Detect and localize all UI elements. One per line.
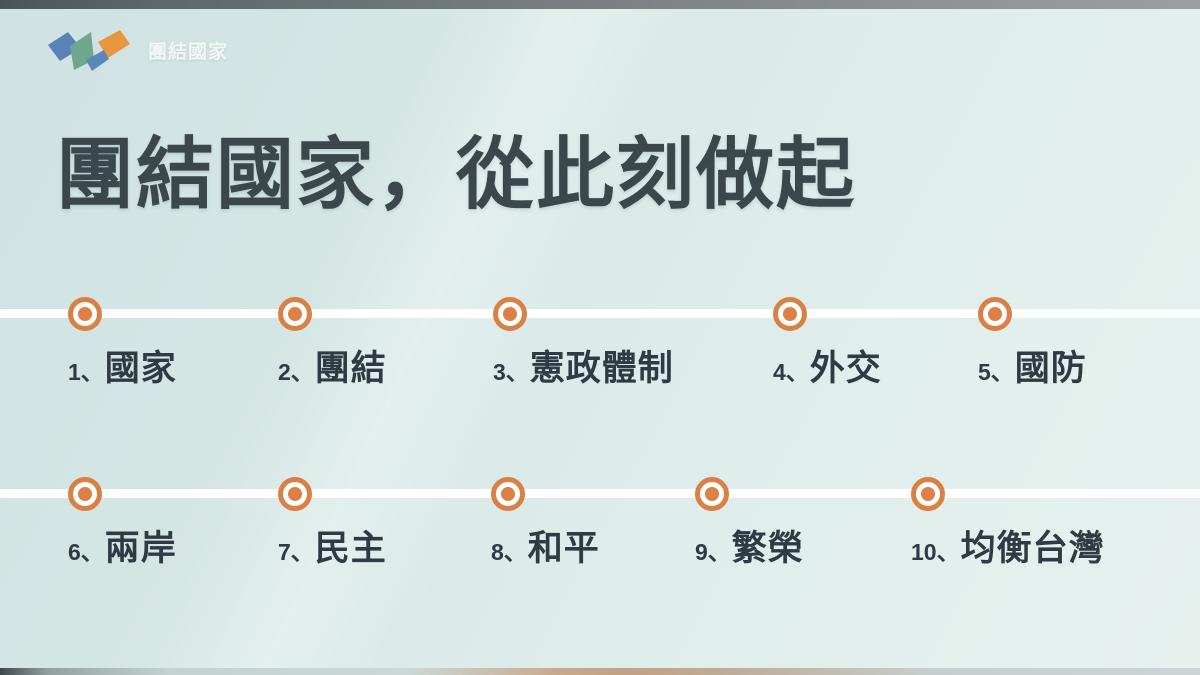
timeline-rail — [0, 309, 1200, 318]
timeline-item-number: 7、 — [278, 533, 314, 567]
timeline-dot-icon — [493, 297, 527, 331]
page-title: 團結國家，從此刻做起 — [56, 132, 856, 216]
timeline-dot-icon — [978, 297, 1012, 331]
timeline-dot-icon — [773, 297, 807, 331]
brand-lockup[interactable]: 團結國家 — [46, 26, 228, 74]
timeline-item-label: 8、 和平 — [491, 520, 600, 571]
top-letterbox-bar — [0, 0, 1200, 9]
four-tile-logo-icon — [46, 26, 136, 74]
slide-canvas: 團結國家 團結國家，從此刻做起 1、 國家 2、 團結 3、 憲政體制 — [0, 0, 1200, 675]
timeline-item-number: 8、 — [491, 533, 527, 567]
timeline-dot-icon — [68, 477, 102, 511]
timeline-item-name: 民主 — [315, 520, 387, 571]
timeline-item-label: 2、 團結 — [278, 340, 387, 391]
timeline-item-number: 5、 — [978, 353, 1014, 387]
timeline-item-name: 團結 — [315, 340, 387, 391]
timeline-item-name: 國家 — [105, 340, 177, 391]
timeline-item-number: 4、 — [773, 353, 809, 387]
timeline-item-number: 1、 — [68, 353, 104, 387]
timeline-item-number: 3、 — [493, 353, 529, 387]
timeline-item-name: 和平 — [528, 520, 600, 571]
timeline-dot-icon — [278, 477, 312, 511]
timeline-item-label: 5、 國防 — [978, 340, 1087, 391]
timeline-item-label: 7、 民主 — [278, 520, 387, 571]
timeline-item-name: 憲政體制 — [530, 340, 674, 391]
timeline-item-label: 1、 國家 — [68, 340, 177, 391]
timeline-dot-icon — [278, 297, 312, 331]
timeline-rail — [0, 489, 1200, 498]
timeline-row-1: 1、 國家 2、 團結 3、 憲政體制 4、 外交 — [0, 286, 1200, 396]
timeline-item-label: 6、 兩岸 — [68, 520, 177, 571]
timeline-dot-icon — [695, 477, 729, 511]
timeline-item-number: 6、 — [68, 533, 104, 567]
timeline-item-label: 4、 外交 — [773, 340, 882, 391]
timeline-item-number: 9、 — [695, 533, 731, 567]
timeline-item-name: 繁榮 — [732, 520, 804, 571]
timeline-item-label: 10、 均衡台灣 — [911, 520, 1105, 571]
timeline-item-name: 國防 — [1015, 340, 1087, 391]
timeline-item-number: 10、 — [911, 533, 960, 567]
timeline-item-name: 均衡台灣 — [961, 520, 1105, 571]
timeline-item-name: 外交 — [810, 340, 882, 391]
brand-name: 團結國家 — [148, 37, 228, 64]
timeline-item-label: 9、 繁榮 — [695, 520, 804, 571]
timeline-dot-icon — [911, 477, 945, 511]
bottom-letterbox-bar — [0, 668, 1200, 675]
timeline-row-2: 6、 兩岸 7、 民主 8、 和平 9、 繁榮 — [0, 466, 1200, 576]
timeline-item-name: 兩岸 — [105, 520, 177, 571]
timeline-dot-icon — [491, 477, 525, 511]
timeline-item-label: 3、 憲政體制 — [493, 340, 674, 391]
timeline-dot-icon — [68, 297, 102, 331]
timeline-item-number: 2、 — [278, 353, 314, 387]
